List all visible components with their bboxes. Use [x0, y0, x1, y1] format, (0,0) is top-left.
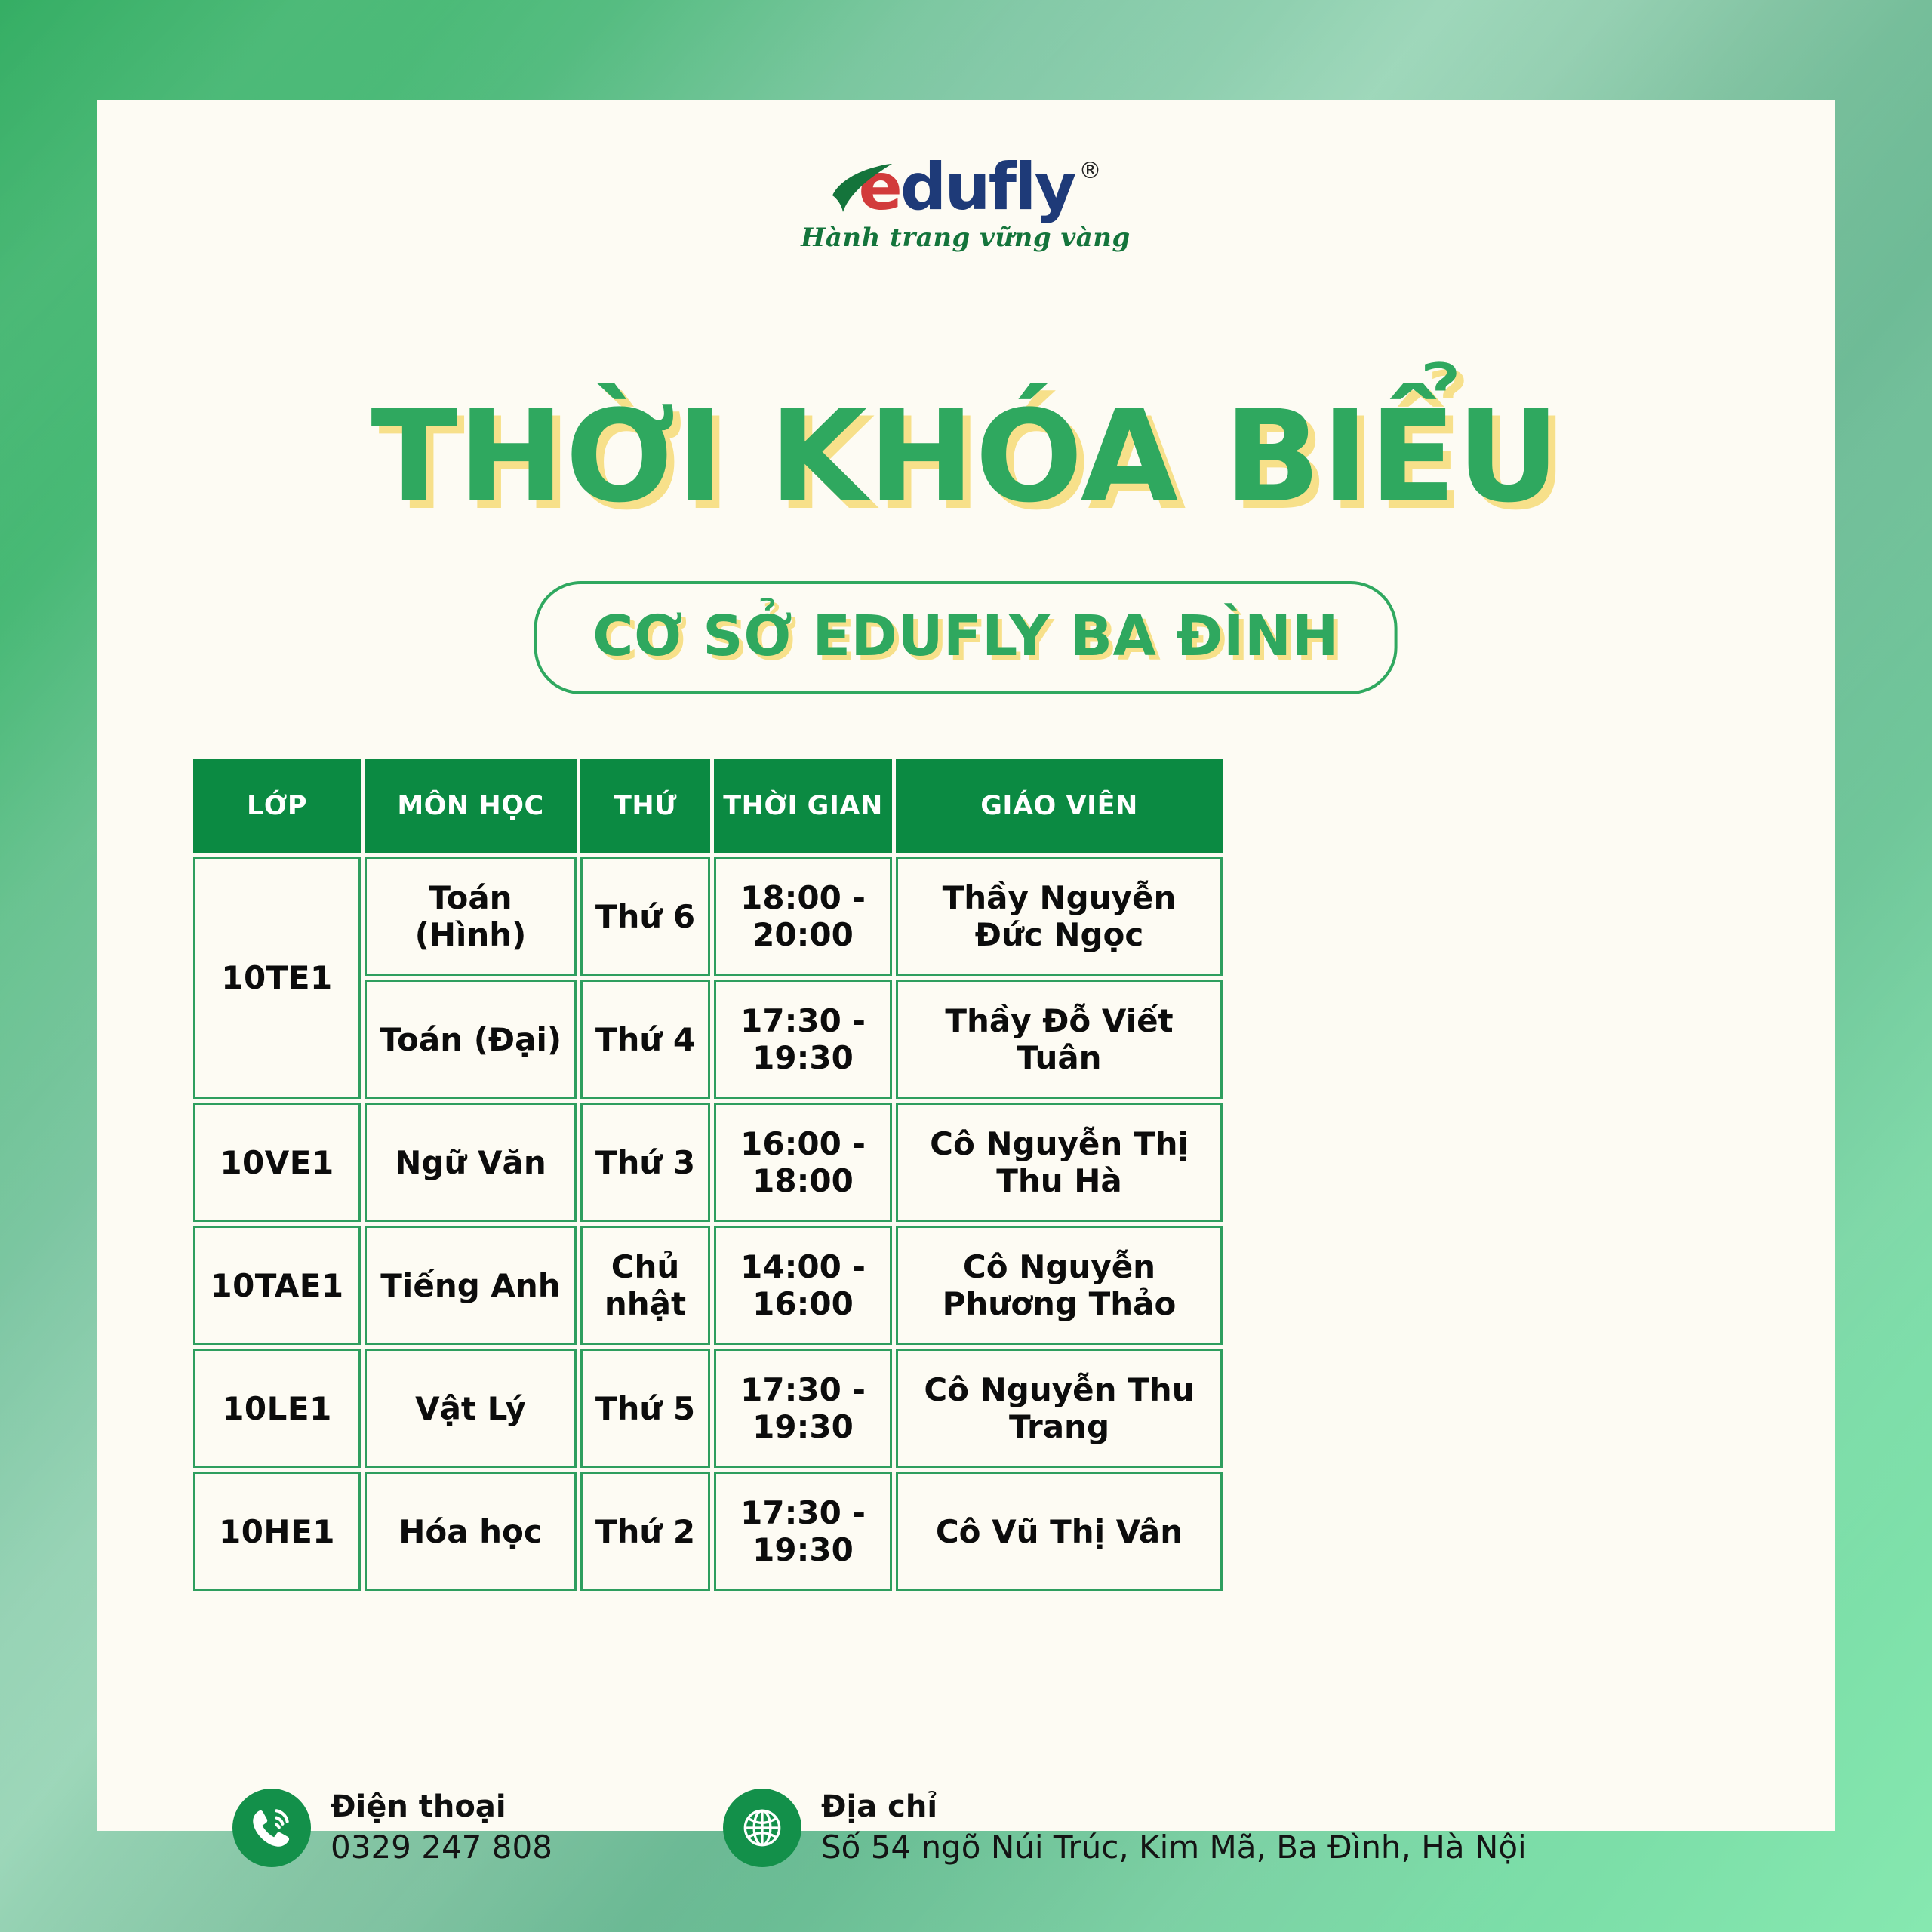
table-cell-day: Chủ nhật [580, 1226, 710, 1345]
brand-tagline: Hành trang vững vàng [801, 223, 1131, 253]
logo-wordmark: e dufly ® [829, 159, 1101, 218]
phone-value: 0329 247 808 [331, 1828, 552, 1866]
graduation-cap-icon [829, 159, 893, 215]
logo-letters-dufly: dufly [900, 159, 1075, 215]
column-header-time: THỜI GIAN [714, 759, 892, 853]
table-header-row: LỚP MÔN HỌC THỨ THỜI GIAN GIÁO VIÊN [193, 759, 1740, 853]
table-cell-time: 17:30 - 19:30 [714, 1349, 892, 1468]
address-text-block: Địa chỉ Số 54 ngõ Núi Trúc, Kim Mã, Ba Đ… [821, 1789, 1527, 1866]
table-cell-day: Thứ 5 [580, 1349, 710, 1468]
brand-logo: e dufly ® Hành trang vững vàng [97, 159, 1835, 253]
column-header-class: LỚP [193, 759, 361, 853]
table-cell-day: Thứ 3 [580, 1103, 710, 1222]
table-cell-time: 17:30 - 19:30 [714, 1472, 892, 1591]
contact-phone: Điện thoại 0329 247 808 [232, 1789, 723, 1867]
registered-trademark-icon: ® [1079, 158, 1102, 184]
address-label: Địa chỉ [821, 1789, 1527, 1825]
table-cell-time: 16:00 - 18:00 [714, 1103, 892, 1222]
table-cell-time: 17:30 - 19:30 [714, 980, 892, 1099]
subtitle-badge: CƠ SỞ EDUFLY BA ĐÌNH [534, 581, 1398, 694]
table-cell-time: 18:00 - 20:00 [714, 857, 892, 976]
table-cell-subject: Tiếng Anh [365, 1226, 577, 1345]
address-value: Số 54 ngõ Núi Trúc, Kim Mã, Ba Đình, Hà … [821, 1828, 1527, 1866]
table-cell-subject: Vật Lý [365, 1349, 577, 1468]
table-cell-teacher: Thầy Nguyễn Đức Ngọc [896, 857, 1223, 976]
poster-card: e dufly ® Hành trang vững vàng THỜI KHÓA… [97, 100, 1835, 1831]
table-cell-teacher: Cô Nguyễn Thị Thu Hà [896, 1103, 1223, 1222]
column-header-day: THỨ [580, 759, 710, 853]
contact-footer: Điện thoại 0329 247 808 Địa c [232, 1789, 1527, 1867]
column-header-subject: MÔN HỌC [365, 759, 577, 853]
table-cell-teacher: Cô Nguyễn Thu Trang [896, 1349, 1223, 1468]
poster-background: e dufly ® Hành trang vững vàng THỜI KHÓA… [0, 0, 1932, 1932]
phone-label: Điện thoại [331, 1789, 552, 1825]
phone-icon [232, 1789, 311, 1867]
table-cell-class: 10TAE1 [193, 1226, 361, 1345]
column-header-teacher: GIÁO VIÊN [896, 759, 1223, 853]
table-cell-class: 10TE1 [193, 857, 361, 1099]
table-cell-subject: Ngữ Văn [365, 1103, 577, 1222]
table-cell-day: Thứ 6 [580, 857, 710, 976]
page-title: THỜI KHÓA BIỂU [97, 389, 1835, 525]
phone-text-block: Điện thoại 0329 247 808 [331, 1789, 552, 1866]
table-cell-subject: Hóa học [365, 1472, 577, 1591]
subtitle-text: CƠ SỞ EDUFLY BA ĐÌNH [592, 604, 1339, 669]
contact-address: Địa chỉ Số 54 ngõ Núi Trúc, Kim Mã, Ba Đ… [723, 1789, 1527, 1867]
table-cell-time: 14:00 - 16:00 [714, 1226, 892, 1345]
table-cell-day: Thứ 4 [580, 980, 710, 1099]
table-cell-subject: Toán (Hình) [365, 857, 577, 976]
table-cell-teacher: Cô Vũ Thị Vân [896, 1472, 1223, 1591]
schedule-table: LỚP MÔN HỌC THỨ THỜI GIAN GIÁO VIÊN 10TE… [193, 759, 1740, 1591]
table-cell-subject: Toán (Đại) [365, 980, 577, 1099]
globe-icon [723, 1789, 801, 1867]
table-cell-day: Thứ 2 [580, 1472, 710, 1591]
table-cell-class: 10LE1 [193, 1349, 361, 1468]
table-body: 10TE1 Toán (Hình) Thứ 6 18:00 - 20:00 Th… [193, 857, 1740, 1591]
table-cell-class: 10HE1 [193, 1472, 361, 1591]
table-cell-class: 10VE1 [193, 1103, 361, 1222]
table-cell-teacher: Thầy Đỗ Viết Tuân [896, 980, 1223, 1099]
table-cell-teacher: Cô Nguyễn Phương Thảo [896, 1226, 1223, 1345]
